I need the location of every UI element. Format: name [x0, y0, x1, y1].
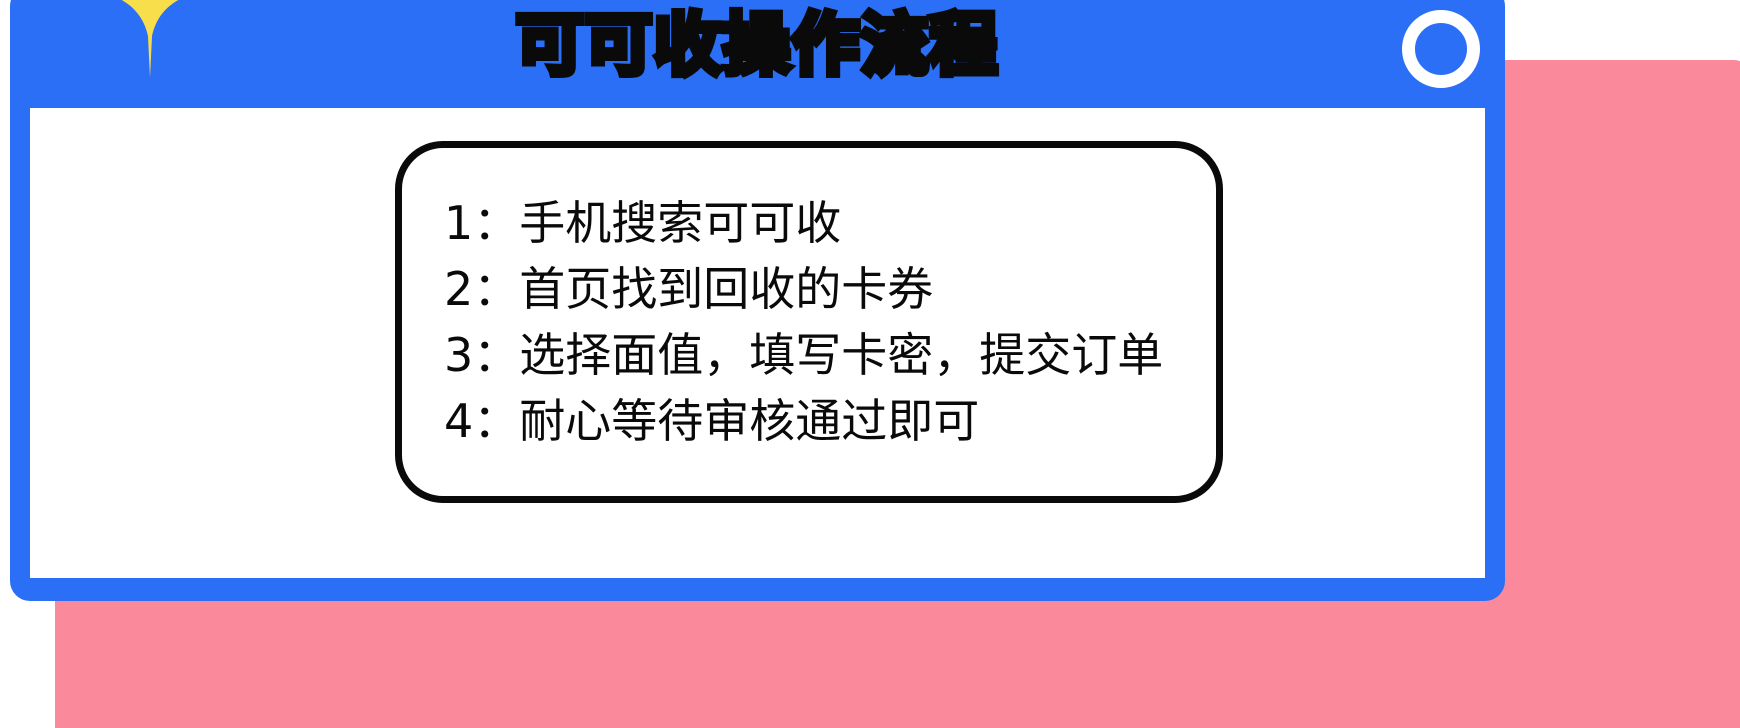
poster-root: 可可收操作流程 1：手机搜索可可收 2：首页找到回收的卡券 3：选择面值，填写卡…	[0, 0, 1740, 728]
content-panel: 1：手机搜索可可收 2：首页找到回收的卡券 3：选择面值，填写卡密，提交订单 4…	[30, 108, 1485, 578]
page-title: 可可收操作流程	[10, 0, 1505, 108]
step-line: 2：首页找到回收的卡券	[444, 256, 1216, 322]
step-line: 1：手机搜索可可收	[444, 190, 1216, 256]
steps-box: 1：手机搜索可可收 2：首页找到回收的卡券 3：选择面值，填写卡密，提交订单 4…	[395, 141, 1223, 503]
step-line: 4：耐心等待审核通过即可	[444, 388, 1216, 454]
circle-outline-icon	[1402, 10, 1480, 88]
blue-card: 可可收操作流程 1：手机搜索可可收 2：首页找到回收的卡券 3：选择面值，填写卡…	[10, 0, 1505, 601]
step-line: 3：选择面值，填写卡密，提交订单	[444, 322, 1216, 388]
page-title-text: 可可收操作流程	[516, 12, 999, 79]
